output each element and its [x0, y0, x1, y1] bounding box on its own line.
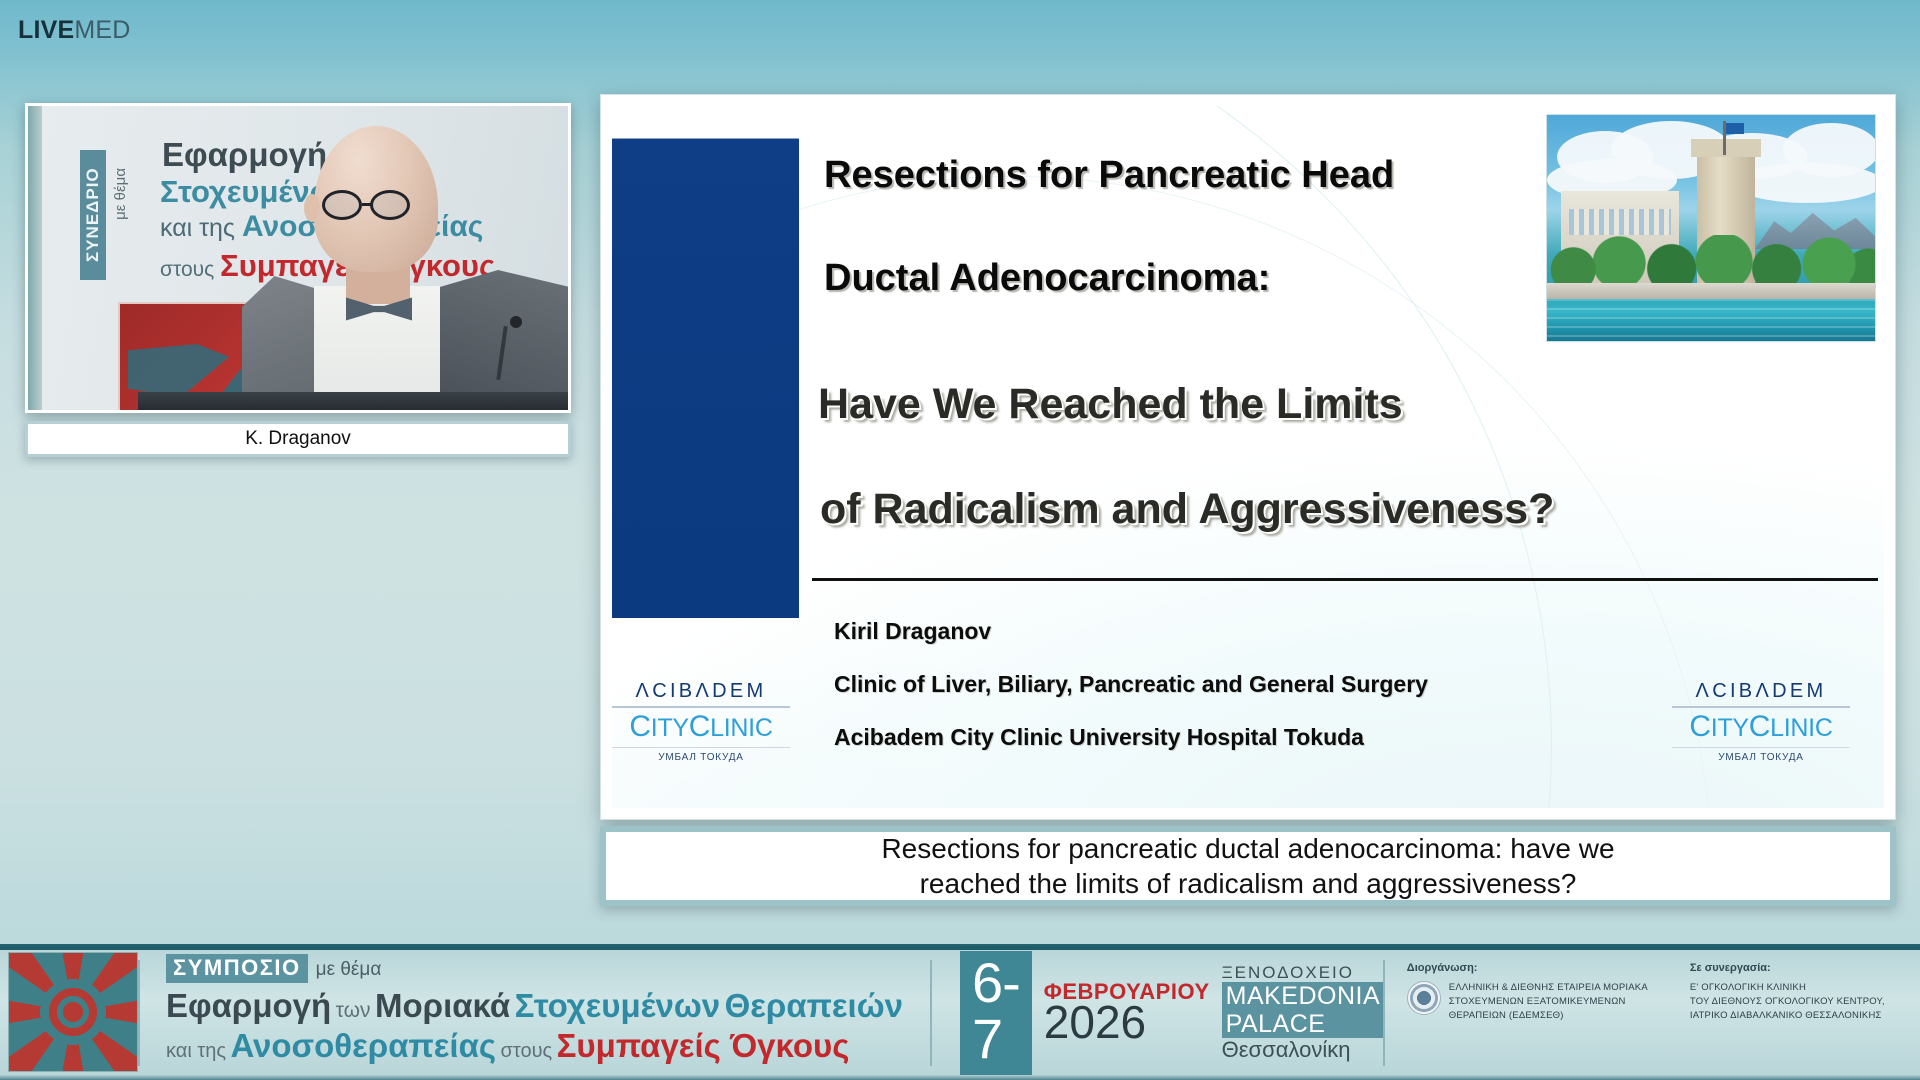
banner-theme-row-1: Εφαρμογή των Μοριακά Στοχευμένων Θεραπει… — [166, 987, 930, 1025]
collaborator-column: Σε συνεργασία: Ε' ΟΓΚΟΛΟΓΙΚΗ ΚΛΙΝΙΚΗ ΤΟΥ… — [1690, 962, 1885, 1080]
slide-affiliation-2: Acibadem City Clinic University Hospital… — [834, 724, 1364, 751]
speaker-video[interactable]: ΣΥΝΕΔΡΙΟ με θέμα Εφαρμογή Στοχευμένων κα… — [25, 103, 571, 413]
banner-venue-name: MAKEDONIA PALACE — [1222, 982, 1383, 1038]
podium-desk — [138, 392, 568, 413]
organizer-line-3: ΘΕΡΑΠΕΙΩΝ (ΕΔΕΜΣΕΘ) — [1449, 1009, 1648, 1023]
banner-theme-w4: Στοχευμένων — [515, 987, 721, 1024]
umbal-tokuda-label: УМБАЛ ТОКУДА — [1672, 748, 1850, 763]
backdrop-line-4-small: στους — [160, 258, 214, 281]
slide-affiliation-1: Clinic of Liver, Biliary, Pancreatic and… — [834, 671, 1428, 698]
backdrop-vertical-tag: ΣΥΝΕΔΡΙΟ — [80, 150, 106, 280]
banner-organizers: Διοργάνωση: ΕΛΛΗΝΙΚΗ & ΔΙΕΘΝΗΣ ΕΤΑΙΡΕΙΑ … — [1385, 946, 1920, 1080]
glasses-icon — [322, 190, 442, 220]
cityclinic-wordmark: CITYCLINIC — [1672, 708, 1850, 748]
banner-theme2-w3: στους — [501, 1040, 553, 1062]
banner-days-chip: 6-7 — [960, 951, 1032, 1075]
banner-theme-row-2: και της Ανοσοθεραπείας στους Συμπαγείς Ό… — [166, 1027, 930, 1065]
collaborator-line-2: ΤΟΥ ΔΙΕΘΝΟΥΣ ΟΓΚΟΛΟΓΙΚΟΥ ΚΕΝΤΡΟΥ, — [1690, 995, 1885, 1009]
slide-title-line-1: Resections for Pancreatic Head — [824, 156, 1394, 194]
slide-divider — [812, 578, 1878, 581]
white-tower-photo — [1546, 114, 1876, 342]
backdrop-vertical-sub: με θέμα — [112, 168, 129, 220]
talk-title-line-2: reached the limits of radicalism and agg… — [881, 866, 1614, 901]
umbal-tokuda-label: УМБАЛ ТОКУДА — [612, 748, 790, 763]
symposium-emblem-icon — [8, 952, 138, 1072]
slide-title-line-4: of Radicalism and Aggressiveness? — [820, 488, 1554, 531]
microphone-icon — [510, 316, 522, 328]
acibadem-logo-left: ΛCIBΛDEM CITYCLINIC УМБАЛ ТОКУДА — [612, 680, 790, 763]
webinar-player-page: LIVEMED ΣΥΝΕΔΡΙΟ με θέμα Εφαρμογή Στοχευ… — [0, 0, 1920, 1080]
backdrop-line-3-small: και της — [160, 214, 235, 242]
collaborator-line-3: ΙΑΤΡΙΚΟ ΔΙΑΒΑΛΚΑΝΙΚΟ ΘΕΣΣΑΛΟΝΙΚΗΣ — [1690, 1009, 1885, 1023]
banner-venue: ΞΕΝΟΔΟΧΕΙΟ MAKEDONIA PALACE Θεσσαλονίκη — [1222, 963, 1383, 1063]
banner-symposium-chip: ΣΥΜΠΟΣΙΟ — [166, 954, 308, 983]
banner-year: 2026 — [1044, 999, 1210, 1045]
banner-symposium-sub: με θέμα — [316, 959, 382, 981]
organizer-column: Διοργάνωση: ΕΛΛΗΝΙΚΗ & ΔΙΕΘΝΗΣ ΕΤΑΙΡΕΙΑ … — [1407, 962, 1648, 1080]
acibadem-wordmark: ΛCIBΛDEM — [612, 680, 790, 708]
banner-venue-label: ΞΕΝΟΔΟΧΕΙΟ — [1222, 963, 1383, 982]
slide-accent-bar — [612, 138, 799, 618]
ear — [304, 194, 320, 222]
livemed-logo-light: MED — [74, 16, 130, 44]
banner-theme2-w1: και της — [166, 1040, 226, 1062]
slide-author: Kiril Draganov — [834, 618, 991, 645]
organizer-heading: Διοργάνωση: — [1407, 962, 1648, 974]
cityclinic-wordmark: CITYCLINIC — [612, 708, 790, 748]
collaborator-body: Ε' ΟΓΚΟΛΟΓΙΚΗ ΚΛΙΝΙΚΗ ΤΟΥ ΔΙΕΘΝΟΥΣ ΟΓΚΟΛ… — [1690, 981, 1885, 1022]
event-banner: ΣΥΜΠΟΣΙΟ με θέμα Εφαρμογή των Μοριακά Στ… — [0, 944, 1920, 1080]
banner-month-year: ΦΕΒΡΟΥΑΡΙΟΥ 2026 — [1044, 981, 1210, 1045]
video-frame: ΣΥΝΕΔΡΙΟ με θέμα Εφαρμογή Στοχευμένων κα… — [28, 106, 568, 410]
organizer-line-2: ΣΤΟΧΕΥΜΕΝΩΝ ΕΞΑΤΟΜΙΚΕΥΜΕΝΩΝ — [1449, 995, 1648, 1009]
slide-canvas: Resections for Pancreatic Head Ductal Ad… — [612, 106, 1884, 808]
slide-title-line-2: Ductal Adenocarcinoma: — [824, 259, 1270, 297]
presentation-slide[interactable]: Resections for Pancreatic Head Ductal Ad… — [600, 94, 1896, 820]
banner-venue-city: Θεσσαλονίκη — [1222, 1038, 1383, 1063]
banner-date-block: 6-7 ΦΕΒΡΟΥΑΡΙΟΥ 2026 ΞΕΝΟΔΟΧΕΙΟ MAKEDONI… — [932, 946, 1383, 1080]
banner-theme2-w2: Ανοσοθεραπείας — [230, 1027, 496, 1064]
banner-theme-w1: Εφαρμογή — [166, 987, 331, 1024]
photo-water — [1547, 299, 1875, 341]
talk-title-line-1: Resections for pancreatic ductal adenoca… — [881, 831, 1614, 866]
talk-title-text: Resections for pancreatic ductal adenoca… — [881, 831, 1614, 901]
banner-theme-w5: Θεραπειών — [725, 987, 903, 1024]
organizer-lines: ΕΛΛΗΝΙΚΗ & ΔΙΕΘΝΗΣ ΕΤΑΙΡΕΙΑ ΜΟΡΙΑΚΑ ΣΤΟΧ… — [1449, 981, 1648, 1022]
acibadem-wordmark: ΛCIBΛDEM — [1672, 680, 1850, 708]
organizer-body: ΕΛΛΗΝΙΚΗ & ΔΙΕΘΝΗΣ ΕΤΑΙΡΕΙΑ ΜΟΡΙΑΚΑ ΣΤΟΧ… — [1407, 981, 1648, 1022]
society-seal-icon — [1407, 981, 1441, 1015]
organizer-line-1: ΕΛΛΗΝΙΚΗ & ΔΙΕΘΝΗΣ ΕΤΑΙΡΕΙΑ ΜΟΡΙΑΚΑ — [1449, 981, 1648, 995]
talk-title-caption: Resections for pancreatic ductal adenoca… — [600, 826, 1896, 906]
collaborator-heading: Σε συνεργασία: — [1690, 962, 1885, 974]
collaborator-line-1: Ε' ΟΓΚΟΛΟΓΙΚΗ ΚΛΙΝΙΚΗ — [1690, 981, 1885, 995]
livemed-logo: LIVEMED — [18, 18, 131, 43]
photo-flag-icon — [1723, 121, 1726, 155]
photo-promenade — [1547, 283, 1875, 299]
slide-title-line-3: Have We Reached the Limits — [818, 383, 1403, 426]
banner-symposium-row: ΣΥΜΠΟΣΙΟ με θέμα — [166, 954, 930, 983]
speaker-name-label: K. Draganov — [245, 428, 351, 450]
banner-theme2-w4: Συμπαγείς Όγκους — [557, 1027, 850, 1064]
banner-theme-w2: των — [336, 999, 371, 1022]
collaborator-lines: Ε' ΟΓΚΟΛΟΓΙΚΗ ΚΛΙΝΙΚΗ ΤΟΥ ΔΙΕΘΝΟΥΣ ΟΓΚΟΛ… — [1690, 981, 1885, 1022]
banner-title-block: ΣΥΜΠΟΣΙΟ με θέμα Εφαρμογή των Μοριακά Στ… — [140, 946, 930, 1080]
acibadem-logo-right: ΛCIBΛDEM CITYCLINIC УМБАЛ ТОКУДА — [1672, 680, 1850, 763]
banner-theme-w3: Μοριακά — [375, 987, 510, 1024]
livemed-logo-bold: LIVE — [18, 16, 74, 44]
speaker-name-caption: K. Draganov — [25, 421, 571, 457]
speaker-figure — [242, 120, 571, 413]
